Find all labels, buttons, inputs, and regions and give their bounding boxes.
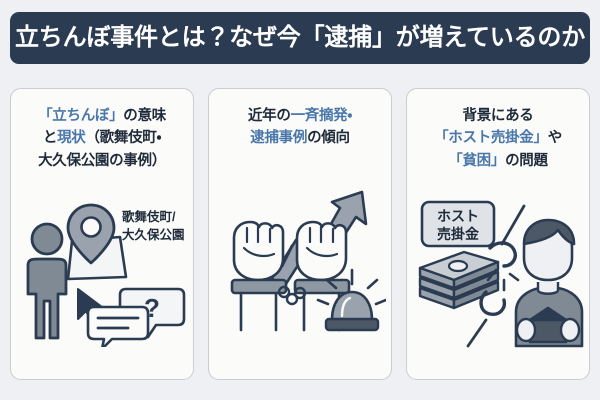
host-debt-tag-line-2: 売掛金 [437,226,480,242]
page-title: 立ちんぼ事件とは？なぜ今「逮捕」が増えているのか [15,26,585,50]
person-with-empty-wallet-icon [516,220,582,346]
card-1-heading-seg-2: と [43,130,57,146]
card-recent-crackdowns-and-arrests[interactable]: 近年の一斉摘発・ 逮捕事例の傾向 [208,88,392,380]
card-3-heading-seg-0: 背景にある [463,108,534,124]
map-label-line-2: 大久保公園 [122,227,185,242]
card-host-debt-and-poverty[interactable]: 背景にある 「ホスト売掛金」や 「貧困」の問題 ホスト 売掛金 [406,88,590,380]
host-debt-tag-line-1: ホスト [437,208,479,224]
card-1-illustration: 歌舞伎町/ 大久保公園 ? [11,172,193,379]
card-2-heading-seg-1: 一斉摘発・ [291,108,352,124]
card-3-heading-seg-3: 「貧困」 [448,153,505,169]
host-debt-tag: ホスト 売掛金 [422,202,494,246]
card-3-heading-seg-2: や [548,130,562,146]
card-2-heading-seg-3: の傾向 [307,130,350,146]
card-2-heading: 近年の一斉摘発・ 逮捕事例の傾向 [242,105,358,150]
page-title-bar: 立ちんぼ事件とは？なぜ今「逮捕」が増えているのか [10,12,590,64]
map-label-line-1: 歌舞伎町/ [122,209,176,224]
card-1-heading: 「立ちんぼ」の意味 と現状（歌舞伎町・ 大久保公園の事例） [32,105,172,172]
card-row: 「立ちんぼ」の意味 と現状（歌舞伎町・ 大久保公園の事例） 歌舞伎町/ 大久保公… [10,88,590,380]
person-silhouette-icon [28,224,66,338]
card-2-illustration [209,150,391,379]
card-2-heading-seg-0: 近年の [248,108,291,124]
card-1-heading-seg-4: （歌舞伎町・ [85,130,161,146]
card-3-heading-seg-1: 「ホスト売掛金」 [434,130,548,146]
speech-bubble-lines-icon [88,307,148,347]
card-3-heading-seg-4: の問題 [505,153,548,169]
card-1-heading-seg-3: 現状 [57,130,85,146]
card-meaning-and-current-state[interactable]: 「立ちんぼ」の意味 と現状（歌舞伎町・ 大久保公園の事例） 歌舞伎町/ 大久保公… [10,88,194,380]
card-3-illustration: ホスト 売掛金 [407,172,589,379]
money-stack-icon [420,252,498,308]
card-1-heading-seg-1: の意味 [123,108,166,124]
card-3-heading: 背景にある 「ホスト売掛金」や 「貧困」の問題 [428,105,568,172]
card-1-heading-seg-0: 「立ちんぼ」 [38,108,123,124]
card-1-heading-seg-5: 大久保公園の事例） [38,153,166,169]
card-2-heading-seg-2: 逮捕事例 [250,130,307,146]
